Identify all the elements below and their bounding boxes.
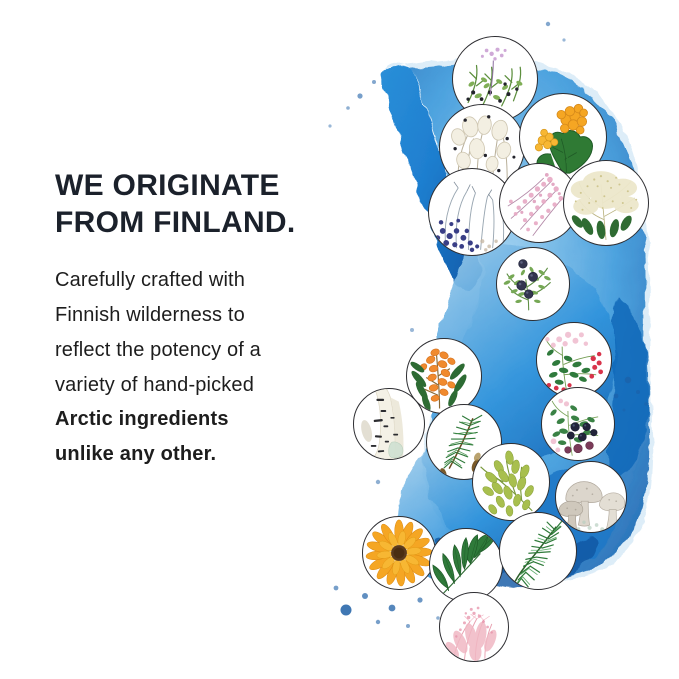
copy-block: WE ORIGINATE FROM FINLAND. Carefully cra…	[55, 168, 355, 472]
ingredient-circle-layer	[320, 0, 679, 679]
berrymix-icon	[542, 388, 614, 460]
map-southeast-tail	[521, 470, 613, 566]
ingredient-circle-pine-needle	[499, 512, 577, 590]
ingredient-circle-calendula	[362, 516, 436, 590]
birch-icon	[354, 389, 424, 459]
meadowsweet-icon	[564, 161, 648, 245]
map-bottom-hem	[433, 537, 598, 587]
cottongrass-icon	[440, 105, 524, 189]
lingonberry-icon	[537, 323, 611, 397]
body-line-5: unlike any other.	[55, 437, 355, 472]
map-northwest-arm	[382, 64, 481, 289]
willowherb-icon	[500, 164, 578, 242]
watercolor-map-svg	[320, 0, 679, 679]
body-line-3: variety of hand-picked	[55, 368, 355, 403]
map-east-edge	[609, 300, 649, 476]
body-line-0: Carefully crafted with	[55, 263, 355, 298]
ingredient-circle-spruce-shoot	[426, 404, 502, 480]
algae-icon	[440, 593, 508, 661]
spruce-icon	[427, 405, 501, 479]
ingredient-circle-cloudberry	[519, 93, 607, 181]
map-central-wash	[433, 244, 617, 459]
map-splatter-dots	[328, 22, 647, 628]
ingredient-circle-hemp-leaf	[429, 528, 503, 602]
ingredient-circle-juniper	[496, 247, 570, 321]
juniper-icon	[497, 248, 569, 320]
ingredient-circle-pink-algae	[439, 592, 509, 662]
rowan-icon	[473, 444, 549, 520]
mushroom-icon	[556, 462, 626, 532]
ingredient-circle-meadowsweet	[563, 160, 649, 246]
ingredient-circle-mixed-berries	[541, 387, 615, 461]
ingredient-circle-willow-herb	[499, 163, 579, 243]
pine-icon	[500, 513, 576, 589]
finland-map-illustration	[320, 0, 679, 679]
ingredient-circle-lingonberry	[536, 322, 612, 398]
body-paragraph: Carefully crafted withFinnish wilderness…	[55, 241, 355, 472]
ingredient-circle-sea-buckthorn	[406, 338, 482, 414]
buckthorn-icon	[407, 339, 481, 413]
body-line-2: reflect the potency of a	[55, 333, 355, 368]
page-title: WE ORIGINATE FROM FINLAND.	[55, 168, 355, 241]
ingredient-circle-crowberry-heather	[452, 36, 538, 122]
map-southwest-lobe	[397, 448, 530, 586]
map-body	[388, 62, 649, 577]
body-line-1: Finnish wilderness to	[55, 298, 355, 333]
cloudberry-icon	[520, 94, 606, 180]
body-line-4: Arctic ingredients	[55, 402, 355, 437]
bilberry-icon	[429, 169, 515, 255]
map-outer-bleed	[383, 56, 653, 582]
ingredient-circle-birch-bark	[353, 388, 425, 460]
poster-canvas: WE ORIGINATE FROM FINLAND. Carefully cra…	[0, 0, 679, 679]
ingredient-circle-chanterelle	[555, 461, 627, 533]
ingredient-circle-cotton-grass	[439, 104, 525, 190]
ingredient-circle-rowan-leaf	[472, 443, 550, 521]
crowberry-icon	[453, 37, 537, 121]
ingredient-circle-bilberry-sprig	[428, 168, 516, 256]
calendula-icon	[363, 517, 435, 589]
hemp-icon	[430, 529, 502, 601]
